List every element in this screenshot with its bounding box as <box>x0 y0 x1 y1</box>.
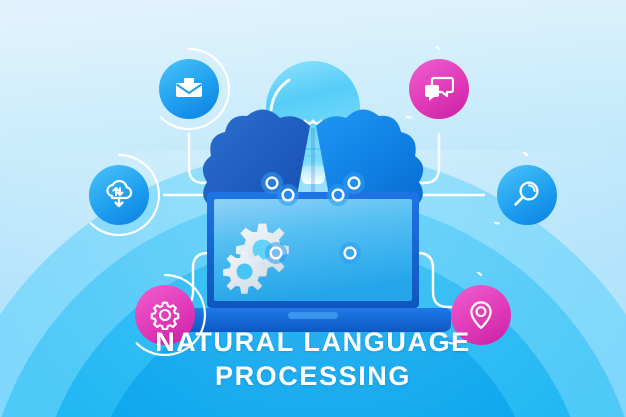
icon-node-cloud[interactable] <box>76 152 162 238</box>
envelope-icon[interactable] <box>159 59 219 119</box>
circuit-node <box>339 242 361 264</box>
icon-node-chat[interactable] <box>396 46 482 132</box>
chat-bubbles-icon[interactable] <box>409 59 469 119</box>
title-line-1: NATURAL LANGUAGE <box>155 327 471 357</box>
icon-node-search[interactable] <box>484 152 570 238</box>
gear-small <box>223 251 266 293</box>
laptop-trackpad <box>288 312 338 319</box>
icon-node-mail[interactable] <box>146 46 232 132</box>
title-line-2: PROCESSING <box>0 360 626 393</box>
circuit-node <box>265 242 287 264</box>
cloud-transfer-icon[interactable] <box>89 165 149 225</box>
magnifier-icon[interactable] <box>497 165 557 225</box>
illustration-canvas: NATURAL LANGUAGE PROCESSING <box>0 0 626 417</box>
laptop <box>175 192 451 332</box>
circuit-node <box>277 184 299 206</box>
circuit-node <box>327 184 349 206</box>
page-title: NATURAL LANGUAGE PROCESSING <box>0 326 626 393</box>
